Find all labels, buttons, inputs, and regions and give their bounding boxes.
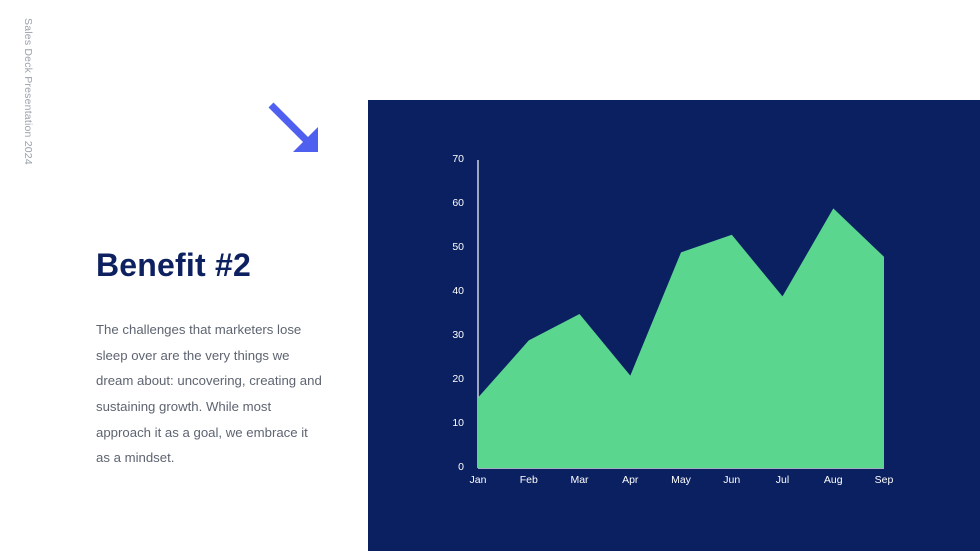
- y-tick-label: 40: [434, 285, 464, 297]
- x-tick-label: Feb: [509, 474, 549, 486]
- x-tick-label: Jun: [712, 474, 752, 486]
- x-tick-label: May: [661, 474, 701, 486]
- y-tick-label: 50: [434, 241, 464, 253]
- y-tick-label: 60: [434, 197, 464, 209]
- slide: Sales Deck Presentation 2024 Benefit #2 …: [0, 0, 980, 551]
- chart-panel: 706050403020100JanFebMarAprMayJunJulAugS…: [368, 100, 980, 551]
- x-tick-label: Apr: [610, 474, 650, 486]
- y-tick-label: 10: [434, 417, 464, 429]
- side-label: Sales Deck Presentation 2024: [22, 18, 34, 218]
- body-paragraph: The challenges that marketers lose sleep…: [96, 317, 324, 471]
- x-tick-label: Jul: [763, 474, 803, 486]
- area-chart: 706050403020100JanFebMarAprMayJunJulAugS…: [368, 100, 980, 551]
- y-tick-label: 20: [434, 373, 464, 385]
- arrow-down-right-icon: [266, 100, 324, 158]
- x-tick-label: Jan: [458, 474, 498, 486]
- y-tick-label: 0: [434, 461, 464, 473]
- left-text-column: Benefit #2 The challenges that marketers…: [96, 248, 346, 471]
- y-tick-label: 70: [434, 153, 464, 165]
- x-tick-label: Sep: [864, 474, 904, 486]
- x-tick-label: Mar: [560, 474, 600, 486]
- page-title: Benefit #2: [96, 248, 346, 283]
- x-tick-label: Aug: [813, 474, 853, 486]
- y-tick-label: 30: [434, 329, 464, 341]
